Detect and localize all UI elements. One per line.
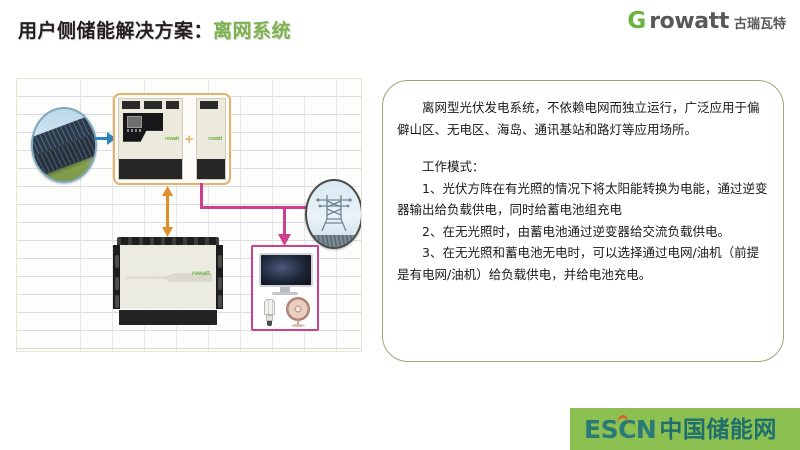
battery-link-line bbox=[166, 195, 169, 229]
inverter-vents bbox=[122, 101, 179, 109]
bulb-tube bbox=[264, 299, 275, 315]
monitor-screen bbox=[261, 255, 311, 285]
battery-handle-left-3 bbox=[115, 295, 119, 308]
inverter-lcd-icon bbox=[127, 116, 142, 128]
description-intro: 离网型光伏发电系统，不依赖电网而独立运行，广泛应用于偏僻山区、无电区、海岛、通讯… bbox=[397, 97, 769, 140]
escn-watermark-cn: 中国储能网 bbox=[659, 418, 777, 441]
monitor-icon bbox=[259, 253, 313, 287]
battery-handle-right-3 bbox=[218, 295, 222, 308]
growatt-logo-mark: G bbox=[627, 10, 646, 33]
battery-bank-node: rowatt bbox=[109, 237, 227, 325]
ac-load-node bbox=[251, 245, 319, 331]
working-modes-title: 工作模式： bbox=[397, 156, 769, 178]
page-title: 用户侧储能解决方案：离网系统 bbox=[18, 16, 291, 43]
inverter-node: rowatt + rowatt bbox=[113, 93, 231, 185]
inverter-secondary-unit: rowatt bbox=[196, 98, 226, 180]
fan-head bbox=[286, 297, 310, 321]
inverter-main-unit: rowatt bbox=[118, 98, 183, 180]
escn-watermark-en: ESCN bbox=[584, 417, 656, 442]
battery-link-arrowhead-up bbox=[162, 186, 173, 196]
description-spacer bbox=[397, 140, 769, 156]
page-title-main: 用户侧储能解决方案： bbox=[18, 21, 213, 42]
monitor-base bbox=[272, 292, 298, 295]
cfl-bulb-icon bbox=[263, 299, 276, 325]
bulb-screw-base bbox=[267, 321, 272, 326]
inverter-display-panel bbox=[123, 113, 163, 142]
inverter-brand-label: rowatt bbox=[165, 136, 179, 142]
inverter-secondary-base bbox=[197, 159, 225, 179]
transmission-tower-icon bbox=[313, 189, 355, 233]
growatt-logo-name: rowatt bbox=[649, 11, 729, 33]
growatt-logo: G rowatt 古瑞瓦特 bbox=[627, 10, 786, 33]
growatt-logo-name-cn: 古瑞瓦特 bbox=[734, 17, 786, 30]
battery-brand-label: rowatt bbox=[192, 271, 210, 277]
battery-handle-left bbox=[115, 255, 119, 268]
inverter-led-row-icon bbox=[127, 129, 143, 132]
battery-body: rowatt bbox=[113, 245, 223, 309]
ac-line-horizontal-bus bbox=[200, 206, 312, 209]
inverter-base bbox=[119, 159, 182, 179]
battery-handle-right bbox=[218, 255, 222, 268]
fan-icon bbox=[286, 297, 310, 327]
page-header: 用户侧储能解决方案：离网系统 G rowatt 古瑞瓦特 bbox=[0, 0, 800, 58]
escn-watermark: ESCN 中国储能网 bbox=[570, 408, 800, 450]
inverter-secondary-vents bbox=[200, 101, 222, 109]
fan-base bbox=[291, 324, 305, 327]
inverter-plus-symbol: + bbox=[185, 132, 194, 147]
ac-line-load-drop bbox=[283, 206, 286, 236]
grid-pylon-node bbox=[305, 179, 362, 249]
working-mode-3: 3、在无光照和蓄电池无电时，可以选择通过电网/油机（前提是有电网/油机）给负载供… bbox=[397, 242, 769, 285]
battery-link-arrowhead-down bbox=[162, 227, 173, 237]
page-title-accent: 离网系统 bbox=[213, 21, 291, 42]
system-diagram: rowatt + rowatt rowatt bbox=[16, 78, 362, 352]
inverter-secondary-brand-label: rowatt bbox=[208, 136, 222, 142]
battery-handle-right-2 bbox=[218, 277, 222, 290]
battery-handle-left-2 bbox=[115, 277, 119, 290]
battery-base bbox=[119, 310, 217, 325]
description-panel: 离网型光伏发电系统，不依赖电网而独立运行，广泛应用于偏僻山区、无电区、海岛、通讯… bbox=[382, 80, 784, 362]
working-mode-2: 2、在无光照时，由蓄电池通过逆变器给交流负载供电。 bbox=[397, 221, 769, 243]
solar-panel-node bbox=[31, 107, 97, 183]
working-mode-1: 1、光伏方阵在有光照的情况下将太阳能转换为电能，通过逆变器输出给负载供电，同时给… bbox=[397, 178, 769, 221]
